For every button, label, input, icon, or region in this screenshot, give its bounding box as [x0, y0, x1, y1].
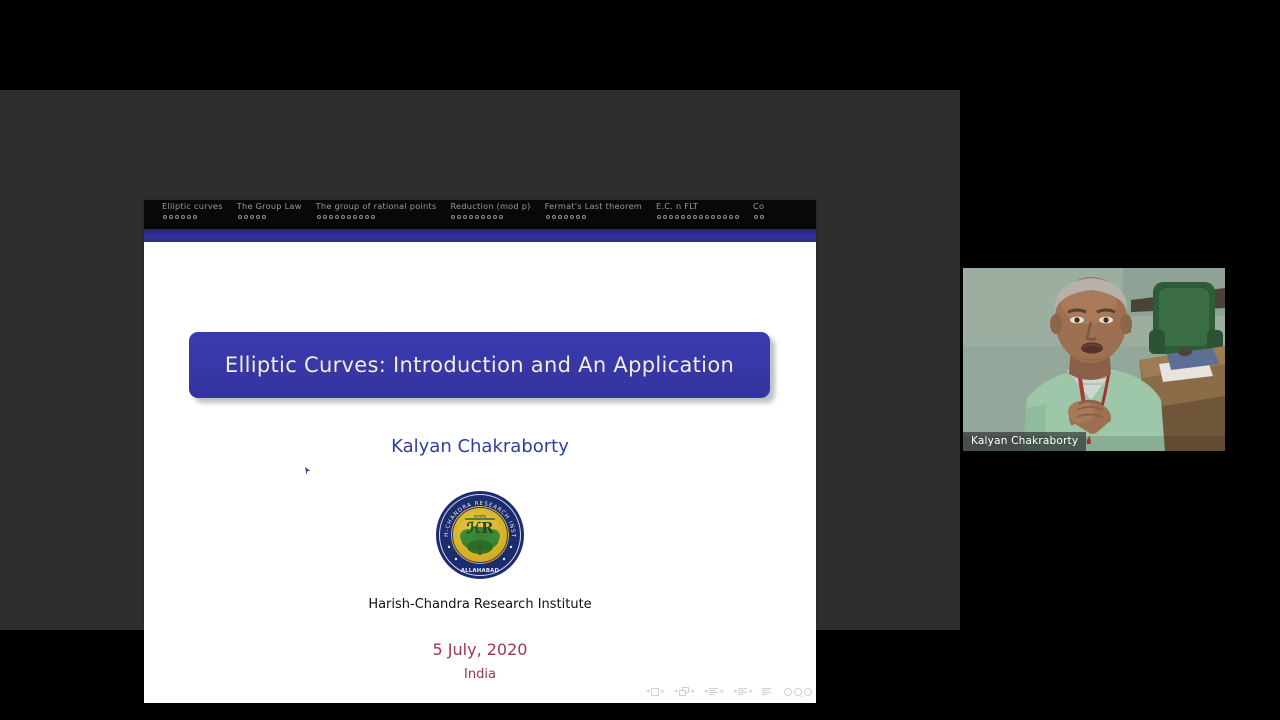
slide-section[interactable]: Fermat's Last theorem	[545, 201, 642, 219]
mouse-cursor-icon	[305, 467, 310, 475]
slide-progress-dot[interactable]	[371, 215, 375, 219]
slide-progress-dot[interactable]	[481, 215, 485, 219]
slide-progress-dot[interactable]	[552, 215, 556, 219]
slide-progress-dot[interactable]	[244, 215, 248, 219]
slide-progress-dot[interactable]	[693, 215, 697, 219]
screen-share-canvas: Elliptic curves The Group Law The group …	[0, 90, 960, 630]
last-slide-icon[interactable]	[762, 688, 771, 696]
first-slide-group[interactable]: ◂ ▸	[646, 688, 665, 696]
author-name: Kalyan Chakraborty	[144, 436, 816, 457]
seal-inner-border	[452, 507, 508, 563]
right-arrow-icon[interactable]: ▸	[661, 688, 665, 695]
beamer-navigation-symbols[interactable]: ◂ ▸ ◂ ▸ ◂ ▸ ◂	[646, 687, 812, 696]
slide-progress-dot[interactable]	[365, 215, 369, 219]
slide-progress-dot[interactable]	[669, 215, 673, 219]
slide-progress-dot[interactable]	[256, 215, 260, 219]
slide-progress-dot[interactable]	[735, 215, 739, 219]
seal-bottom-text: ALLAHABAD	[436, 568, 524, 574]
slide-progress-dot[interactable]	[717, 215, 721, 219]
slide-progress-dot[interactable]	[681, 215, 685, 219]
slide-progress-dot[interactable]	[250, 215, 254, 219]
slide-progress-dot[interactable]	[323, 215, 327, 219]
presentation-country: India	[144, 667, 816, 682]
slide-progress-dot[interactable]	[359, 215, 363, 219]
slide-progress-dot[interactable]	[317, 215, 321, 219]
back-section-icon[interactable]	[709, 688, 718, 696]
slide-section-dots	[656, 215, 739, 219]
slide-progress-dot[interactable]	[262, 215, 266, 219]
slide-section[interactable]: Reduction (mod p)	[450, 201, 530, 219]
slide-navigation-bar: Elliptic curves The Group Law The group …	[144, 200, 816, 229]
slide-progress-dot[interactable]	[347, 215, 351, 219]
slide-rule-divider	[144, 229, 816, 242]
slide-progress-dot[interactable]	[341, 215, 345, 219]
slide-progress-dot[interactable]	[754, 215, 758, 219]
slide-progress-dot[interactable]	[687, 215, 691, 219]
slide-progress-dot[interactable]	[475, 215, 479, 219]
meeting-screen: Elliptic curves The Group Law The group …	[0, 0, 1280, 720]
left-arrow-icon[interactable]: ◂	[646, 688, 650, 695]
slide-progress-dot[interactable]	[657, 215, 661, 219]
slide-section[interactable]: E.C. n FLT	[656, 201, 739, 219]
slide-progress-dot[interactable]	[546, 215, 550, 219]
slide-progress-dot[interactable]	[353, 215, 357, 219]
slide-progress-dot[interactable]	[169, 215, 173, 219]
slide-section-list: Elliptic curves The Group Law The group …	[144, 200, 816, 219]
slide-progress-dot[interactable]	[193, 215, 197, 219]
previous-frame-icon[interactable]	[679, 687, 689, 696]
slide-section-label: The Group Law	[237, 201, 302, 212]
slide-progress-dot[interactable]	[558, 215, 562, 219]
slide-progress-dot[interactable]	[187, 215, 191, 219]
frame-group[interactable]: ◂ ▸	[674, 687, 695, 696]
slide-progress-dot[interactable]	[457, 215, 461, 219]
slide-progress-dot[interactable]	[451, 215, 455, 219]
seal-inner-disc: सत्यमेव ℋR	[451, 506, 509, 564]
slide-progress-dot[interactable]	[493, 215, 497, 219]
institute-logo: HARISH-CHANDRA RESEARCH INSTITUTE	[144, 491, 816, 579]
slide-title-banner: Elliptic Curves: Introduction and An App…	[189, 332, 770, 398]
slide-section[interactable]: The Group Law	[237, 201, 302, 219]
slide-progress-dot[interactable]	[181, 215, 185, 219]
slide-progress-dot[interactable]	[699, 215, 703, 219]
slide-progress-dot[interactable]	[238, 215, 242, 219]
slide-section-label: Co	[753, 201, 764, 212]
slide-progress-dot[interactable]	[711, 215, 715, 219]
slide-progress-dot[interactable]	[760, 215, 764, 219]
slide-section[interactable]: The group of rational points	[316, 201, 437, 219]
slide-section-label: Fermat's Last theorem	[545, 201, 642, 212]
slide-section-dots	[316, 215, 375, 219]
slide-progress-dot[interactable]	[570, 215, 574, 219]
slide-progress-dot[interactable]	[564, 215, 568, 219]
slide-section-label: Reduction (mod p)	[450, 201, 530, 212]
slide-progress-dot[interactable]	[487, 215, 491, 219]
page-title: Elliptic Curves: Introduction and An App…	[225, 353, 734, 377]
slide-content: Elliptic Curves: Introduction and An App…	[144, 242, 816, 703]
slide-progress-dot[interactable]	[582, 215, 586, 219]
slide-progress-dot[interactable]	[729, 215, 733, 219]
slide-section-dots	[450, 215, 503, 219]
slide-progress-dot[interactable]	[576, 215, 580, 219]
subsection-group[interactable]: ◂ ▸	[704, 688, 724, 696]
slide-progress-dot[interactable]	[499, 215, 503, 219]
right-arrow-icon[interactable]: ▸	[749, 688, 753, 695]
zoom-group[interactable]	[784, 688, 812, 696]
participant-video-tile[interactable]: Kalyan Chakraborty	[963, 268, 1225, 451]
redo-icon[interactable]	[804, 688, 812, 696]
slide-progress-dot[interactable]	[335, 215, 339, 219]
institute-name: Harish-Chandra Research Institute	[144, 597, 816, 612]
first-slide-icon[interactable]	[651, 688, 659, 696]
participant-name-label: Kalyan Chakraborty	[963, 432, 1086, 451]
hri-seal-icon: HARISH-CHANDRA RESEARCH INSTITUTE	[436, 491, 524, 579]
right-arrow-icon[interactable]: ▸	[691, 688, 695, 695]
slide-section-label: The group of rational points	[316, 201, 437, 212]
slide-section-label: Elliptic curves	[162, 201, 223, 212]
undo-icon[interactable]	[784, 688, 792, 696]
forward-section-icon[interactable]	[738, 688, 747, 696]
slide-section-dots	[753, 215, 764, 219]
presentation-slide[interactable]: Elliptic curves The Group Law The group …	[144, 200, 816, 703]
slide-progress-dot[interactable]	[175, 215, 179, 219]
slide-section[interactable]: Co	[753, 201, 764, 219]
slide-section-label: E.C. n FLT	[656, 201, 698, 212]
slide-section-dots	[162, 215, 197, 219]
slide-progress-dot[interactable]	[675, 215, 679, 219]
slide-section-dots	[237, 215, 266, 219]
slide-section-dots	[545, 215, 586, 219]
left-arrow-icon[interactable]: ◂	[704, 688, 708, 695]
webcam-video-frame	[963, 268, 1225, 451]
left-arrow-icon[interactable]: ◂	[733, 688, 737, 695]
right-arrow-icon[interactable]: ▸	[720, 688, 724, 695]
left-arrow-icon[interactable]: ◂	[674, 688, 678, 695]
slide-section[interactable]: Elliptic curves	[162, 201, 223, 219]
slide-progress-dot[interactable]	[463, 215, 467, 219]
document-group[interactable]	[762, 688, 771, 696]
presentation-date: 5 July, 2020	[144, 640, 816, 659]
slide-progress-dot[interactable]	[163, 215, 167, 219]
slide-progress-dot[interactable]	[469, 215, 473, 219]
zoom-icon[interactable]	[794, 688, 802, 696]
slide-progress-dot[interactable]	[705, 215, 709, 219]
section-group[interactable]: ◂ ▸	[733, 688, 753, 696]
slide-progress-dot[interactable]	[329, 215, 333, 219]
slide-progress-dot[interactable]	[723, 215, 727, 219]
slide-progress-dot[interactable]	[663, 215, 667, 219]
